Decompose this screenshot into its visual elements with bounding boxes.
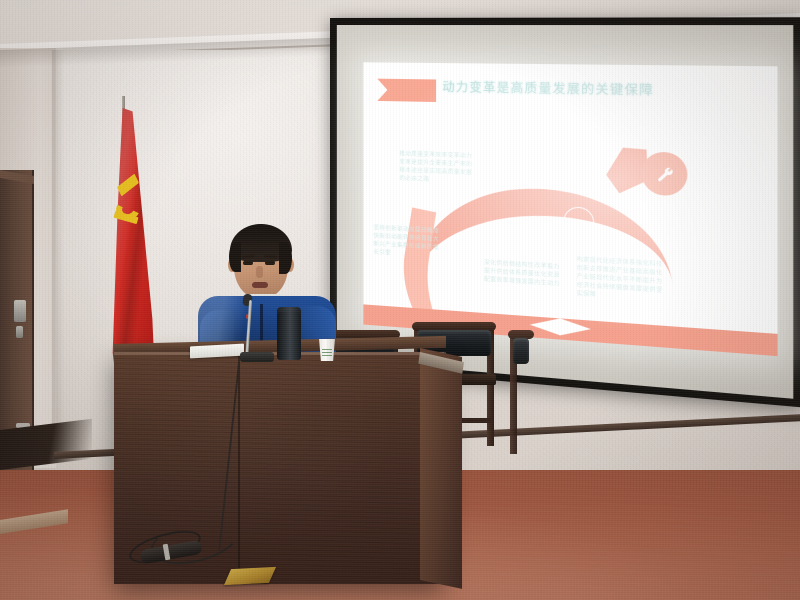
microphone-base[interactable] bbox=[240, 352, 274, 362]
eye-right bbox=[265, 261, 275, 265]
milestone-node-3 bbox=[563, 206, 594, 237]
slide-text-block-1: 推动质量变革效率变革动力变革是提升全要素生产率的根本途径是实现高质量发展的必由之… bbox=[399, 150, 477, 186]
title-ribbon-icon bbox=[377, 79, 436, 102]
chair[interactable] bbox=[508, 330, 534, 460]
slide-text-block-3: 深化供给侧结构性改革着力提升供给体系质量优化资源配置效率增强发展内生动力 bbox=[484, 259, 561, 289]
slide-text-block-4: 构建现代化经济体系强化科技创新支撑推进产业基础高级化产业链现代化水平不断提升为经… bbox=[577, 256, 669, 305]
conference-room-photo: 动力变革是高质量发展的关键保障 推动质量变革效率变革动力变革是提升全要素生产率的… bbox=[0, 0, 800, 600]
door-top-edge bbox=[0, 170, 34, 184]
brass-floor-plate bbox=[224, 567, 276, 585]
door-handle[interactable] bbox=[14, 300, 26, 322]
wrench-icon bbox=[655, 164, 675, 183]
door-lock-icon[interactable] bbox=[16, 326, 23, 338]
paper-cup-print bbox=[322, 347, 332, 356]
eye-left bbox=[243, 261, 253, 265]
hair-side-left bbox=[229, 242, 241, 272]
hair-side-right bbox=[279, 242, 292, 274]
podium-side-panel bbox=[420, 348, 462, 589]
mouth bbox=[252, 282, 268, 288]
slide-title: 动力变革是高质量发展的关键保障 bbox=[442, 77, 765, 100]
slide-text-block-2: 坚持创新驱动发展战略加快新旧动能转换培育壮大新兴产业集群形成新的增长引擎 bbox=[373, 224, 444, 261]
thermos-bottle[interactable] bbox=[277, 312, 301, 360]
wall-corner bbox=[52, 50, 64, 450]
chair-back-cushion bbox=[513, 338, 529, 364]
milestone-node-1 bbox=[448, 265, 471, 289]
projected-slide: 动力变革是高质量发展的关键保障 推动质量变革效率变革动力变革是提升全要素生产率的… bbox=[363, 62, 777, 356]
milestone-node-2 bbox=[507, 234, 531, 258]
wrench-badge bbox=[641, 151, 687, 196]
nose bbox=[256, 266, 263, 278]
